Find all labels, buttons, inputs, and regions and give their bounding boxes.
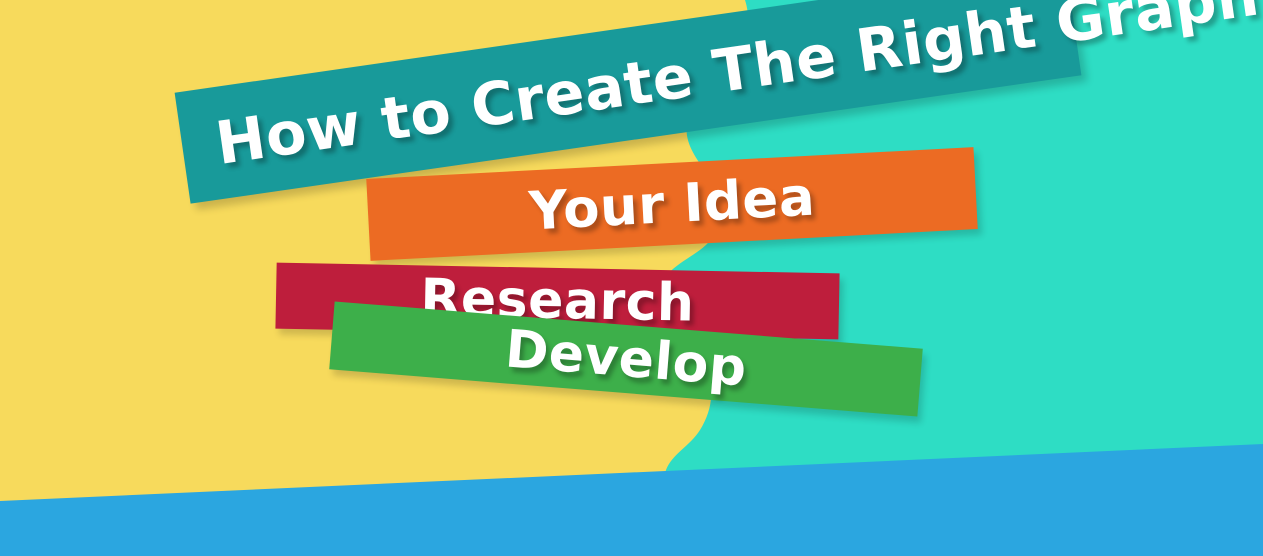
banner-develop-label: Develop <box>503 323 748 394</box>
banner-your-idea-label: Your Idea <box>528 170 817 238</box>
poster-canvas: How to Create The Right Graphic? Your Id… <box>0 0 1263 556</box>
